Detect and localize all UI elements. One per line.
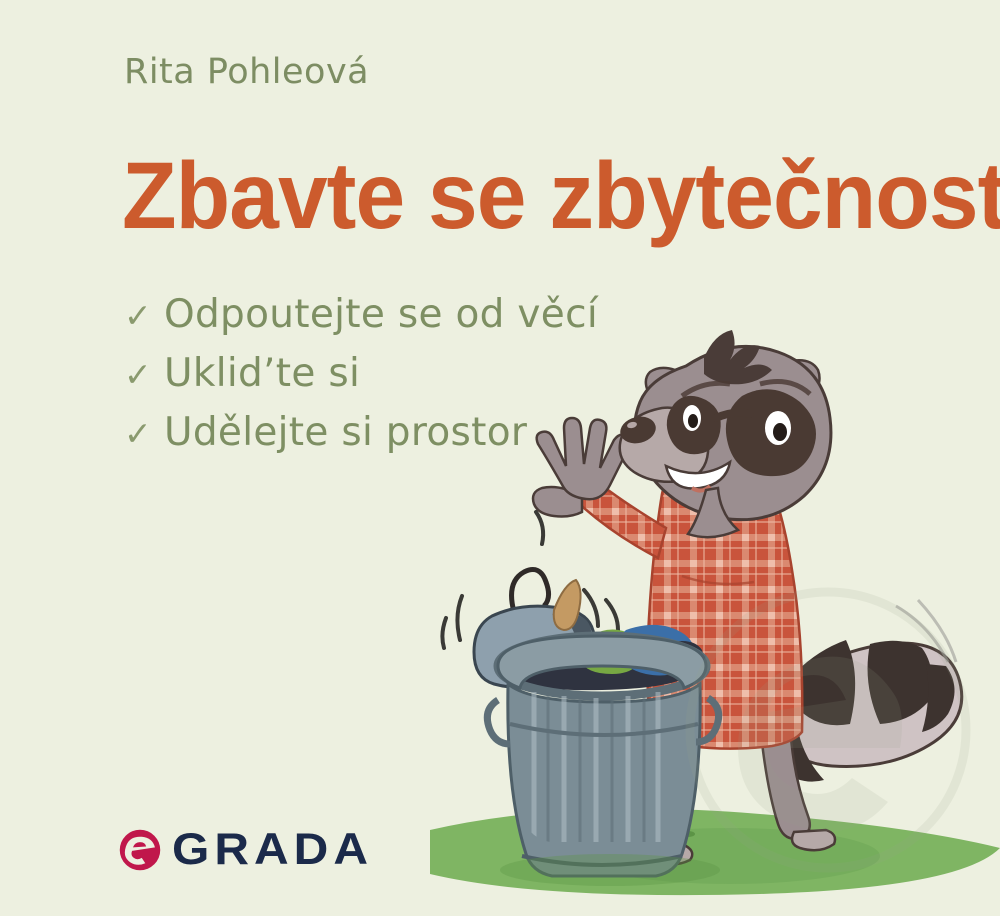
author-name: Rita Pohleová xyxy=(124,52,369,92)
grass-patch xyxy=(430,809,1000,895)
book-cover: Rita Pohleová Zbavte se zbytečností! ✓ O… xyxy=(0,0,1000,916)
list-item: ✓ Udělejte si prostor xyxy=(124,408,598,458)
book-title: Zbavte se zbytečností! xyxy=(122,148,1000,245)
list-item-label: Udělejte si prostor xyxy=(164,408,527,458)
check-icon: ✓ xyxy=(124,290,164,332)
list-item-label: Odpoutejte se od věcí xyxy=(164,290,598,340)
publisher-logo: GRADA xyxy=(118,826,373,874)
feature-list: ✓ Odpoutejte se od věcí ✓ Uklidʼte si ✓ … xyxy=(124,290,598,467)
list-item-label: Uklidʼte si xyxy=(164,349,360,399)
list-item: ✓ Uklidʼte si xyxy=(124,349,598,399)
head xyxy=(617,330,831,537)
list-item: ✓ Odpoutejte se od věcí xyxy=(124,290,598,340)
grada-e-circle-icon xyxy=(118,828,162,872)
check-icon: ✓ xyxy=(124,408,164,450)
check-icon: ✓ xyxy=(124,349,164,391)
ground-shadow xyxy=(500,854,720,886)
publisher-name: GRADA xyxy=(172,828,373,872)
